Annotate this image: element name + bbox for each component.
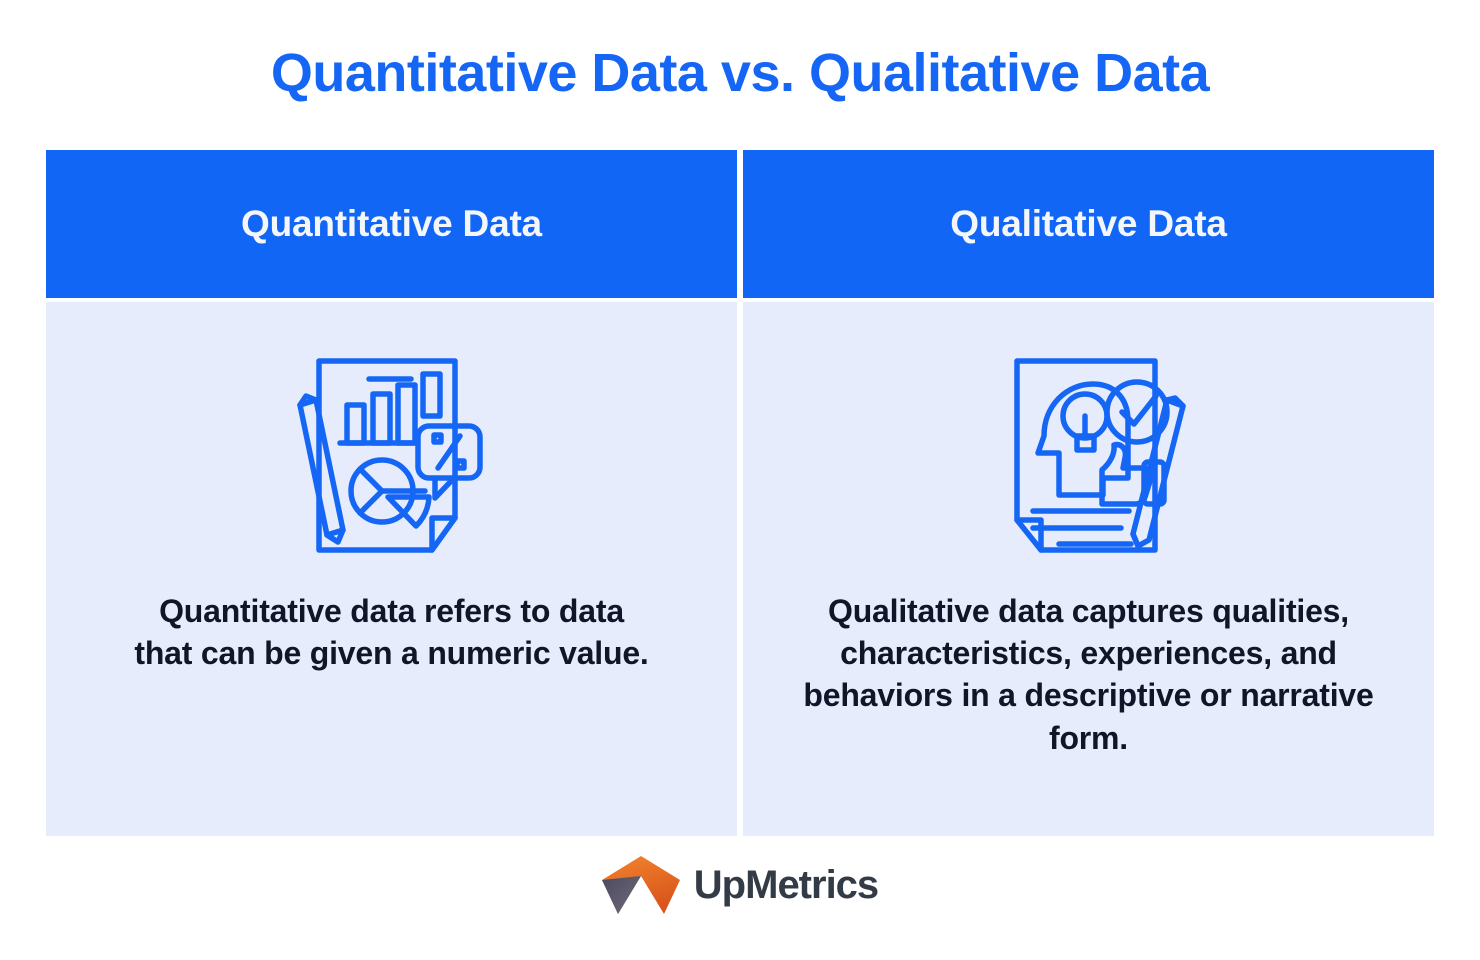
column-header-quantitative: Quantitative Data [46, 150, 737, 298]
comparison-table: Quantitative Data Qualitative Data [46, 150, 1434, 836]
column-header-label: Quantitative Data [241, 203, 542, 245]
column-header-qualitative: Qualitative Data [743, 150, 1434, 298]
infographic-page: Quantitative Data vs. Qualitative Data Q… [0, 0, 1480, 960]
cell-description: Qualitative data captures qualities, cha… [789, 590, 1389, 759]
cell-quantitative: Quantitative data refers to data that ca… [46, 302, 737, 836]
brand-name: UpMetrics [694, 865, 878, 905]
upmetrics-chevron-logo [602, 856, 680, 914]
table-header-row: Quantitative Data Qualitative Data [46, 150, 1434, 298]
cell-description: Quantitative data refers to data that ca… [132, 590, 652, 674]
brand-footer: UpMetrics [0, 856, 1480, 914]
page-title: Quantitative Data vs. Qualitative Data [0, 44, 1480, 103]
cell-qualitative: Qualitative data captures qualities, cha… [743, 302, 1434, 836]
document-head-lightbulb-check-thumbsup-icon [989, 350, 1189, 562]
column-header-label: Qualitative Data [950, 203, 1226, 245]
table-body-row: Quantitative data refers to data that ca… [46, 302, 1434, 836]
document-bar-chart-pie-percent-icon [292, 350, 492, 562]
